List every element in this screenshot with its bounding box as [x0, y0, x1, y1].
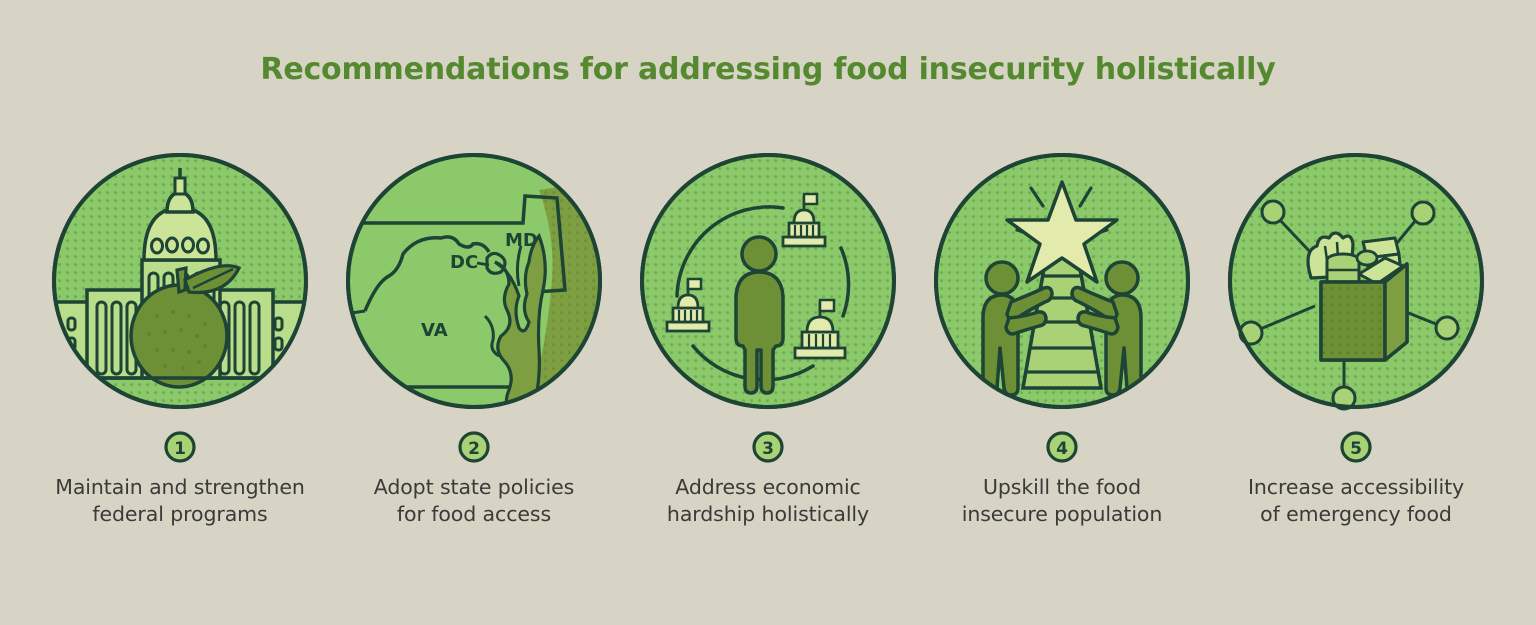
- badge-number-5: 5: [1339, 430, 1373, 464]
- recommendation-caption-3: Address economic hardship holistically: [667, 474, 869, 528]
- ladder-star-people-icon: [931, 150, 1193, 412]
- badge-label: 5: [1350, 439, 1362, 459]
- page-title: Recommendations for addressing food inse…: [0, 52, 1536, 87]
- recommendation-card-1: 1 Maintain and strengthen federal progra…: [33, 150, 327, 528]
- badge-number-3: 3: [751, 430, 785, 464]
- map-label-md: MD: [505, 230, 538, 251]
- map-label-va: VA: [421, 320, 448, 341]
- recommendation-caption-1: Maintain and strengthen federal programs: [55, 474, 304, 528]
- badge-number-1: 1: [163, 430, 197, 464]
- recommendation-card-3: 3 Address economic hardship holistically: [621, 150, 915, 528]
- recommendation-caption-2: Adopt state policies for food access: [374, 474, 574, 528]
- network-node-icon: [1412, 202, 1434, 224]
- badge-label: 1: [174, 439, 186, 459]
- infographic-root: Recommendations for addressing food inse…: [0, 0, 1536, 625]
- recommendation-card-4: 4 Upskill the food insecure population: [915, 150, 1209, 528]
- food-box-network-icon: [1225, 150, 1487, 412]
- badge-number-2: 2: [457, 430, 491, 464]
- network-node-icon: [1436, 317, 1458, 339]
- badge-label: 2: [468, 439, 480, 459]
- badge-label: 3: [762, 439, 774, 459]
- person-government-buildings-icon: [637, 150, 899, 412]
- map-label-dc: DC: [450, 252, 478, 273]
- recommendation-list: 1 Maintain and strengthen federal progra…: [0, 150, 1536, 528]
- state-map-icon: MD DC VA: [343, 150, 605, 412]
- network-node-icon: [1262, 201, 1284, 223]
- recommendation-card-2: MD DC VA 2 Adopt state policies for food…: [327, 150, 621, 528]
- badge-label: 4: [1056, 439, 1068, 459]
- recommendation-card-5: 5 Increase accessibility of emergency fo…: [1209, 150, 1503, 528]
- capitol-apple-icon: [49, 150, 311, 412]
- recommendation-caption-5: Increase accessibility of emergency food: [1248, 474, 1464, 528]
- badge-number-4: 4: [1045, 430, 1079, 464]
- recommendation-caption-4: Upskill the food insecure population: [962, 474, 1163, 528]
